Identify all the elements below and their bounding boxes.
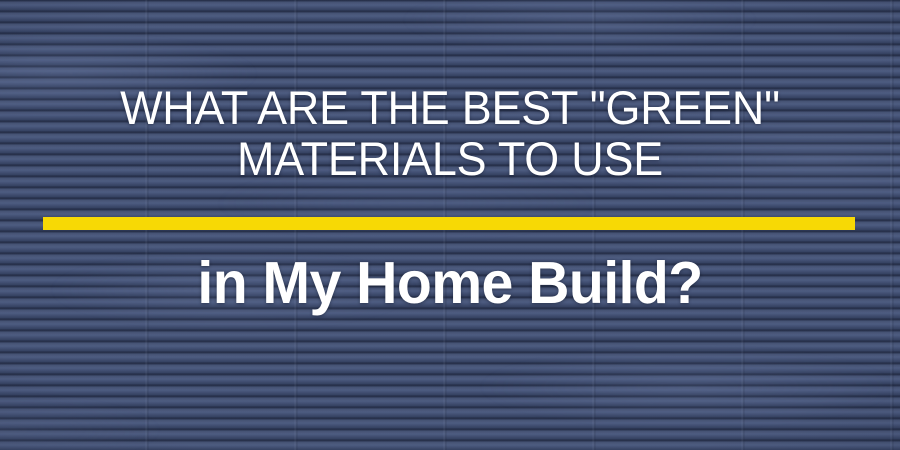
headline-secondary: in My Home Build? — [14, 252, 887, 314]
headline-primary: WHAT ARE THE BEST "GREEN" MATERIALS TO U… — [20, 82, 880, 184]
banner-content: WHAT ARE THE BEST "GREEN" MATERIALS TO U… — [0, 0, 900, 450]
banner-graphic: WHAT ARE THE BEST "GREEN" MATERIALS TO U… — [0, 0, 900, 450]
yellow-divider — [43, 217, 855, 230]
yellow-divider-bar — [43, 217, 855, 230]
